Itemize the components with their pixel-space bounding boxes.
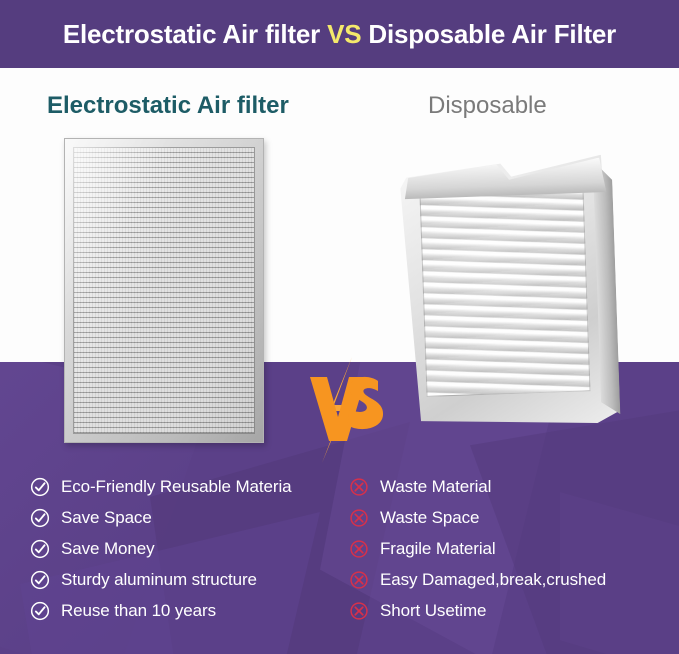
electrostatic-filter-image xyxy=(64,138,264,443)
banner-title: Electrostatic Air filter VS Disposable A… xyxy=(63,19,616,50)
list-item: Easy Damaged,break,crushed xyxy=(349,565,669,595)
banner-title-before: Electrostatic Air filter xyxy=(63,19,327,49)
banner-title-after: Disposable Air Filter xyxy=(361,19,616,49)
check-circle-icon xyxy=(30,539,50,559)
x-circle-icon xyxy=(349,570,369,590)
cons-item-label: Waste Material xyxy=(380,477,491,497)
list-item: Short Usetime xyxy=(349,596,669,626)
pros-item-label: Reuse than 10 years xyxy=(61,601,216,621)
list-item: Save Space xyxy=(30,503,345,533)
disposable-filter-top-lip xyxy=(404,157,607,199)
electrostatic-filter-mesh xyxy=(73,147,255,434)
right-column-subtitle: Disposable xyxy=(428,92,547,120)
pros-item-label: Sturdy aluminum structure xyxy=(61,570,257,590)
list-item: Save Money xyxy=(30,534,345,564)
pros-item-label: Save Money xyxy=(61,539,155,559)
cons-list: Waste Material Waste Space Fragile Mater… xyxy=(349,472,669,627)
pros-list: Eco-Friendly Reusable Materia Save Space… xyxy=(30,472,345,627)
list-item: Waste Material xyxy=(349,472,669,502)
list-item: Reuse than 10 years xyxy=(30,596,345,626)
vs-badge xyxy=(300,355,390,465)
banner-vs-word: VS xyxy=(327,19,361,49)
check-circle-icon xyxy=(30,508,50,528)
cons-item-label: Waste Space xyxy=(380,508,479,528)
list-item: Fragile Material xyxy=(349,534,669,564)
comparison-poster: Electrostatic Air filter VS Disposable A… xyxy=(0,0,679,654)
header-banner: Electrostatic Air filter VS Disposable A… xyxy=(0,0,679,68)
check-circle-icon xyxy=(30,477,50,497)
check-circle-icon xyxy=(30,601,50,621)
disposable-filter-media xyxy=(419,188,590,397)
cons-item-label: Short Usetime xyxy=(380,601,486,621)
list-item: Waste Space xyxy=(349,503,669,533)
check-circle-icon xyxy=(30,570,50,590)
x-circle-icon xyxy=(349,601,369,621)
pros-item-label: Eco-Friendly Reusable Materia xyxy=(61,477,291,497)
pros-item-label: Save Space xyxy=(61,508,152,528)
x-circle-icon xyxy=(349,508,369,528)
x-circle-icon xyxy=(349,539,369,559)
list-item: Eco-Friendly Reusable Materia xyxy=(30,472,345,502)
list-item: Sturdy aluminum structure xyxy=(30,565,345,595)
cons-item-label: Fragile Material xyxy=(380,539,496,559)
lightning-bolt-vs-icon xyxy=(300,355,390,465)
left-column-subtitle: Electrostatic Air filter xyxy=(47,92,289,120)
x-circle-icon xyxy=(349,477,369,497)
disposable-filter-image xyxy=(399,154,618,429)
cons-item-label: Easy Damaged,break,crushed xyxy=(380,570,606,590)
